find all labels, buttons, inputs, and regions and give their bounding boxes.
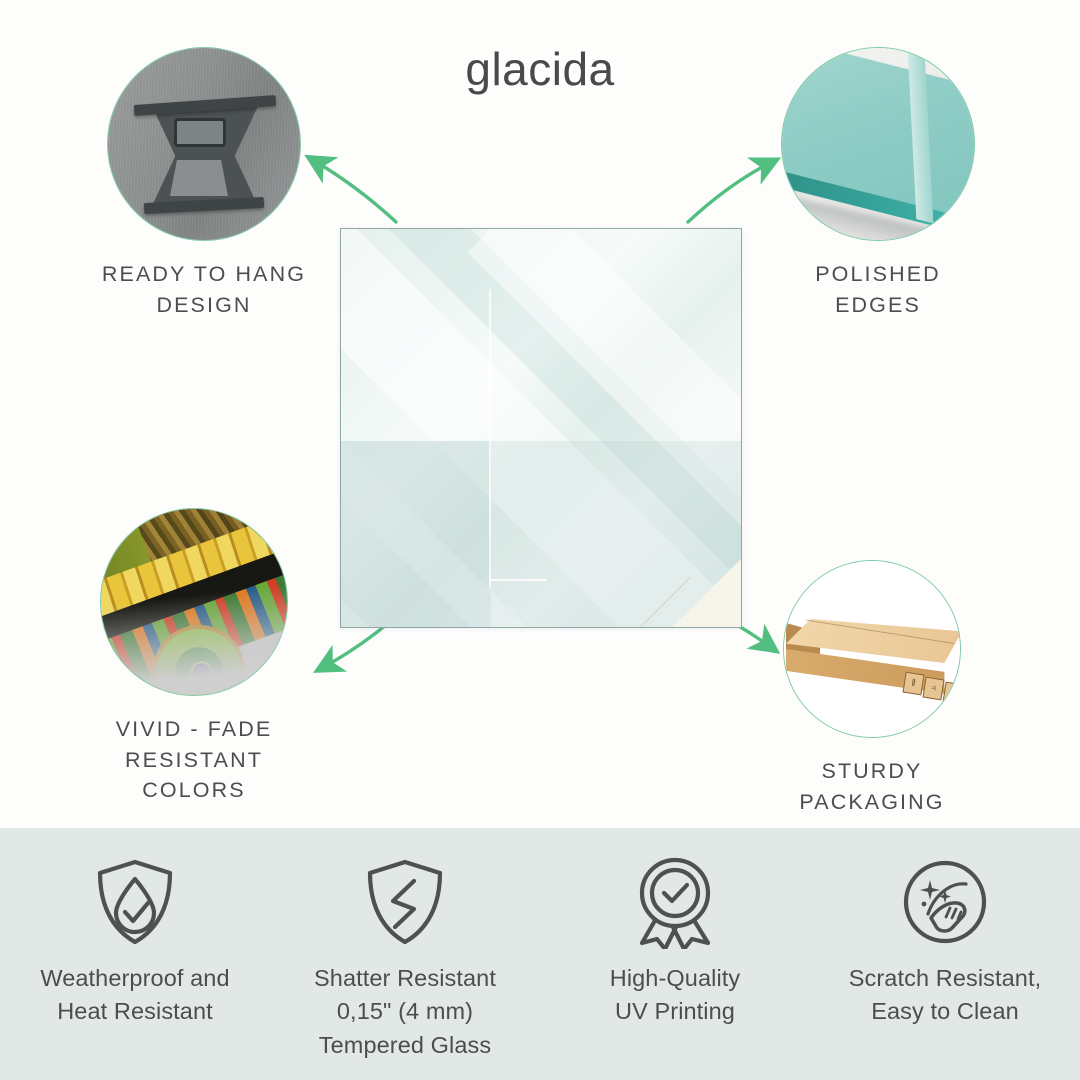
feature-label: READY TO HANGDESIGN	[74, 259, 334, 320]
feature-polished-edges: POLISHEDEDGES	[748, 47, 1008, 320]
shipping-symbol-fragile: ♃	[922, 677, 944, 701]
shipping-symbol-handle: ✈	[942, 682, 961, 706]
benefits-bar: Weatherproof andHeat Resistant Shatter R…	[0, 828, 1080, 1080]
infographic-canvas: glacida R	[0, 0, 1080, 1080]
bracket-slot	[174, 118, 226, 147]
artwork-fade	[100, 584, 288, 696]
feature-label: VIVID - FADE RESISTANTCOLORS	[64, 714, 324, 806]
stained-glass-artwork-photo	[100, 508, 288, 696]
benefit-uv-printing: High-QualityUV Printing	[540, 854, 810, 1029]
benefit-caption: Shatter Resistant0,15" (4 mm)Tempered Gl…	[270, 962, 540, 1062]
feature-ready-to-hang: READY TO HANGDESIGN	[74, 47, 334, 320]
tempered-glass-panel	[340, 228, 742, 628]
shield-lightning-icon	[270, 854, 540, 950]
glass-reflection	[489, 289, 491, 589]
benefit-caption: Scratch Resistant,Easy to Clean	[810, 962, 1080, 1029]
benefit-weatherproof: Weatherproof andHeat Resistant	[0, 854, 270, 1029]
wall-mount-bracket-photo	[107, 47, 301, 241]
shipping-symbol-this-way-up: ‖	[902, 672, 924, 696]
cardboard-box-photo: ‖ ♃ ✈	[783, 560, 961, 738]
glass-reflection	[489, 579, 547, 581]
feature-label: POLISHEDEDGES	[748, 259, 1008, 320]
feature-vivid-colors: VIVID - FADE RESISTANTCOLORS	[64, 508, 324, 806]
benefit-caption: Weatherproof andHeat Resistant	[0, 962, 270, 1029]
benefit-shatter-resistant: Shatter Resistant0,15" (4 mm)Tempered Gl…	[270, 854, 540, 1062]
bracket-opening	[170, 160, 228, 196]
benefit-caption: High-QualityUV Printing	[540, 962, 810, 1029]
award-ribbon-check-icon	[540, 854, 810, 950]
polished-glass-edge-photo	[781, 47, 975, 241]
benefit-scratch-resistant: Scratch Resistant,Easy to Clean	[810, 854, 1080, 1029]
glass-tint	[341, 441, 491, 628]
feature-label: STURDYPACKAGING	[742, 756, 1002, 817]
shield-droplet-check-icon	[0, 854, 270, 950]
sparkle-wipe-hand-icon	[810, 854, 1080, 950]
feature-sturdy-packaging: ‖ ♃ ✈ STURDYPACKAGING	[742, 560, 1002, 817]
